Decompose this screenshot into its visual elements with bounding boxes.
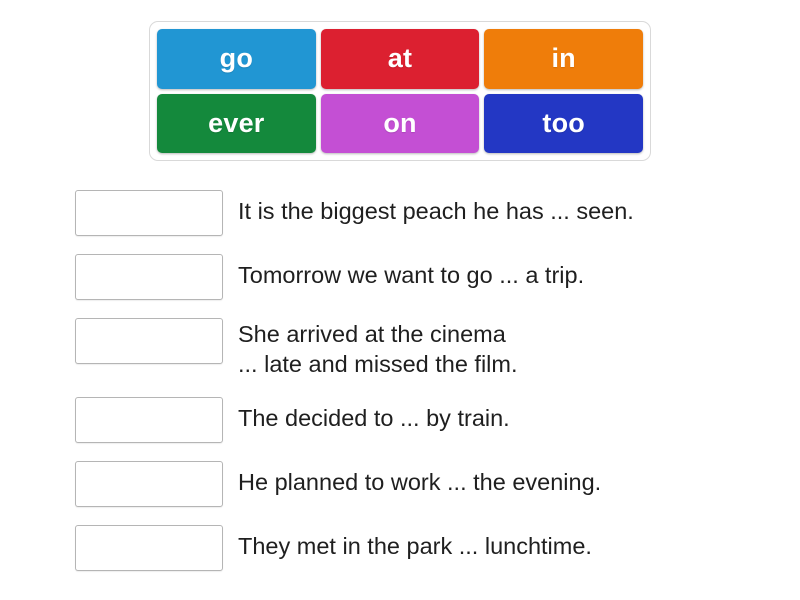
- question-sentence: He planned to work ... the evening.: [238, 461, 601, 497]
- question-sentence: It is the biggest peach he has ... seen.: [238, 190, 634, 226]
- question-row: They met in the park ... lunchtime.: [75, 525, 775, 571]
- question-sentence: They met in the park ... lunchtime.: [238, 525, 592, 561]
- question-row: Tomorrow we want to go ... a trip.: [75, 254, 775, 300]
- question-sentence: She arrived at the cinema ... late and m…: [238, 318, 518, 379]
- word-tile-at[interactable]: at: [321, 29, 480, 89]
- question-row: She arrived at the cinema ... late and m…: [75, 318, 775, 379]
- word-tile-go[interactable]: go: [157, 29, 316, 89]
- question-list: It is the biggest peach he has ... seen.…: [75, 190, 775, 589]
- question-row: The decided to ... by train.: [75, 397, 775, 443]
- tile-row: go at in: [157, 29, 643, 89]
- answer-drop-zone[interactable]: [75, 461, 223, 507]
- word-tile-on[interactable]: on: [321, 94, 480, 154]
- answer-drop-zone[interactable]: [75, 254, 223, 300]
- word-tile-bank: go at in ever on too: [149, 21, 651, 161]
- answer-drop-zone[interactable]: [75, 525, 223, 571]
- question-sentence: The decided to ... by train.: [238, 397, 510, 433]
- word-tile-ever[interactable]: ever: [157, 94, 316, 154]
- answer-drop-zone[interactable]: [75, 397, 223, 443]
- answer-drop-zone[interactable]: [75, 190, 223, 236]
- word-tile-in[interactable]: in: [484, 29, 643, 89]
- question-sentence: Tomorrow we want to go ... a trip.: [238, 254, 584, 290]
- tile-row: ever on too: [157, 94, 643, 154]
- word-tile-too[interactable]: too: [484, 94, 643, 154]
- question-row: He planned to work ... the evening.: [75, 461, 775, 507]
- answer-drop-zone[interactable]: [75, 318, 223, 364]
- question-row: It is the biggest peach he has ... seen.: [75, 190, 775, 236]
